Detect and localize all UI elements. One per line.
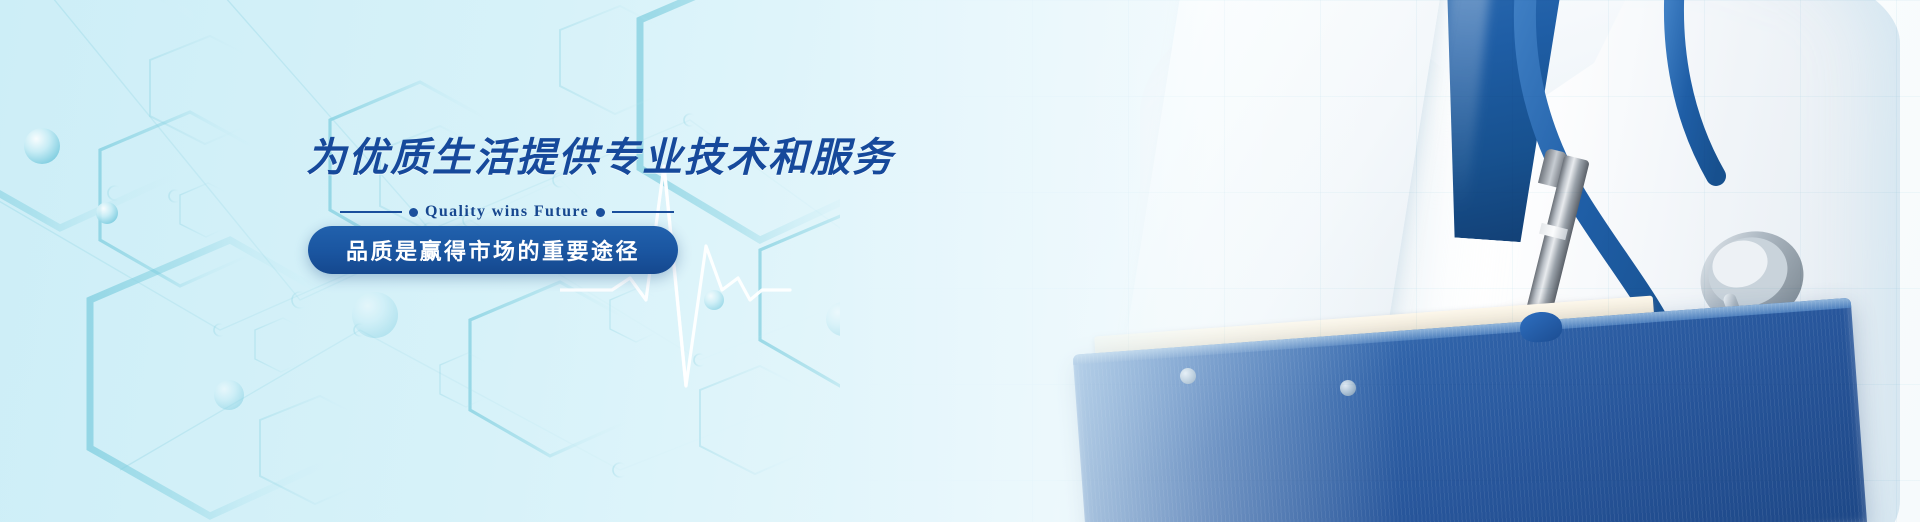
tagline-en: Quality wins Future [425,203,589,221]
dot-icon [409,208,418,217]
divider-line-right [612,211,674,213]
photo-grid-overlay [840,0,1920,522]
slogan-button[interactable]: 品质是赢得市场的重要途径 [308,226,678,274]
doctor-photo [840,0,1920,522]
dot-icon [596,208,605,217]
tagline-divider: Quality wins Future [340,200,660,224]
banner-content: 为优质生活提供专业技术和服务 Quality wins Future 品质是赢得… [0,0,900,522]
divider-line-left [340,211,402,213]
page-title: 为优质生活提供专业技术和服务 [306,125,894,183]
hero-banner: 为优质生活提供专业技术和服务 Quality wins Future 品质是赢得… [0,0,1920,522]
slogan-button-label: 品质是赢得市场的重要途径 [346,234,640,266]
